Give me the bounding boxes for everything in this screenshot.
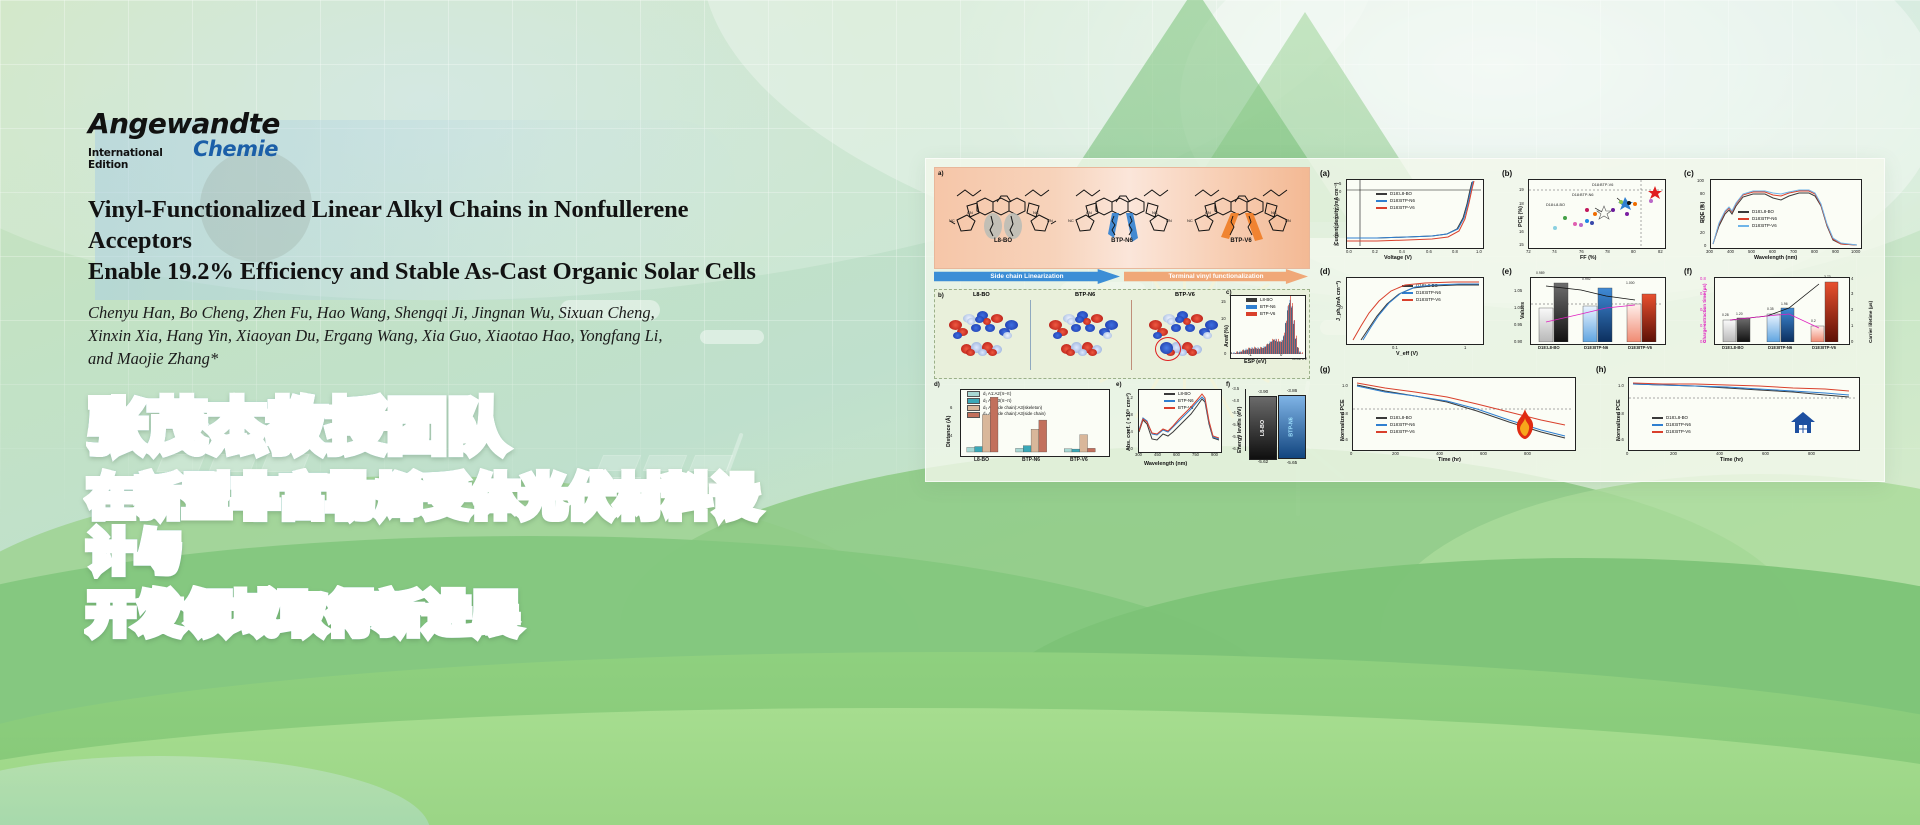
device-panel-c-xlabel: Wavelength (nm) bbox=[1754, 255, 1797, 261]
svg-text:NC: NC bbox=[1187, 218, 1193, 223]
figure-group-right: (a) Current density (mA cm⁻²) Voltage (V… bbox=[1318, 167, 1876, 473]
panel-e-curves bbox=[1139, 390, 1219, 450]
device-e-cat-1: D18:BTP-N6 bbox=[1584, 345, 1608, 350]
energy-bar-btpn6: BTP-N6 bbox=[1278, 395, 1306, 459]
device-b-xtick: 80 bbox=[1631, 249, 1636, 254]
panel-e-absorption-spectra: e) Abs. coef. ( ×10⁵ cm⁻¹) Wavelength (n… bbox=[1116, 381, 1224, 473]
device-panel-b-label: (b) bbox=[1502, 169, 1512, 178]
panel-c-ytick-1: 5 bbox=[1224, 333, 1226, 338]
svg-text:CN: CN bbox=[967, 210, 973, 215]
device-a-xtick: 0.0 bbox=[1346, 249, 1352, 254]
panel-c-xlabel: ESP (eV) bbox=[1244, 359, 1266, 365]
panel-e-xtick-1: 450 bbox=[1154, 452, 1161, 457]
device-a-xtick: 0.8 bbox=[1452, 249, 1458, 254]
svg-text:NC: NC bbox=[1033, 210, 1039, 215]
panel-e-ytick-0: 0.0 bbox=[1127, 446, 1133, 451]
device-c-xtick: 900 bbox=[1832, 249, 1839, 254]
panel-b-title-1: L8-BO bbox=[973, 292, 990, 298]
headline-line-3: 开发领域取得新进展 bbox=[88, 587, 788, 641]
device-h-ytick: 0.6 bbox=[1618, 437, 1624, 442]
device-b-xtick: 82 bbox=[1658, 249, 1663, 254]
energy-bar-name-0: L8-BO bbox=[1260, 420, 1266, 436]
panel-d-bars bbox=[961, 390, 1107, 454]
panel-e-xtick-4: 900 bbox=[1211, 452, 1218, 457]
device-c-xtick: 700 bbox=[1790, 249, 1797, 254]
device-e-ytick: 0.90 bbox=[1514, 339, 1522, 344]
molecule-structure-btpn6: NC CN NC CN BTP-N6 bbox=[1066, 180, 1178, 248]
panel-d-label: d) bbox=[934, 381, 940, 388]
device-panel-h-label: (h) bbox=[1596, 365, 1606, 374]
device-panel-g-xlabel: Time (hr) bbox=[1438, 457, 1461, 463]
device-g-xtick: 0 bbox=[1350, 451, 1352, 456]
journal-name-accent: Chemie bbox=[193, 139, 278, 160]
panel-c-ytick-3: 15 bbox=[1221, 299, 1226, 304]
panel-a-molecular-structures: a) bbox=[934, 167, 1310, 269]
device-panel-h-curves bbox=[1629, 378, 1857, 448]
panel-e-xtick-2: 600 bbox=[1173, 452, 1180, 457]
device-c-xtick: 800 bbox=[1811, 249, 1818, 254]
device-panel-g-label: (g) bbox=[1320, 365, 1330, 374]
device-f-val2-2: 3.73 bbox=[1824, 275, 1831, 279]
device-a-ytick: -5 bbox=[1336, 197, 1340, 202]
device-panel-b: (b) PCE (%) FF (%) 15 16 17 18 19 72 74 … bbox=[1500, 169, 1676, 265]
device-d-ytick: 10 bbox=[1338, 305, 1343, 310]
device-panel-f-ylabel-right: Carrier lifetime (μs) bbox=[1868, 301, 1873, 343]
authors-line-2: Xinxin Xia, Hang Yin, Xiaoyan Du, Ergang… bbox=[88, 324, 788, 347]
device-panel-c-label: (c) bbox=[1684, 169, 1694, 178]
device-b-ytick: 19 bbox=[1519, 187, 1524, 192]
panel-f-ytick-0: -3.5 bbox=[1232, 386, 1239, 391]
device-f-y2tick: 0 bbox=[1851, 339, 1853, 344]
panel-e-xlabel: Wavelength (nm) bbox=[1144, 461, 1187, 467]
device-h-ytick: 0.8 bbox=[1618, 411, 1624, 416]
device-a-ytick: -30 bbox=[1333, 242, 1339, 247]
device-e-ytick: 1.05 bbox=[1514, 288, 1522, 293]
device-g-xtick: 400 bbox=[1436, 451, 1443, 456]
headline-block: 张茂杰教授团队 在新型非富勒烯受体光伏材料设计与 开发领域取得新进展 bbox=[88, 393, 788, 641]
device-c-ytick: 40 bbox=[1700, 217, 1705, 222]
device-panel-a-curves bbox=[1347, 180, 1481, 246]
device-b-ytick: 17 bbox=[1519, 215, 1524, 220]
device-f-ytick: 0.8 bbox=[1700, 276, 1706, 281]
panel-f-ytick-5: -6.0 bbox=[1232, 446, 1239, 451]
device-c-xtick: 600 bbox=[1769, 249, 1776, 254]
flame-icon bbox=[1514, 409, 1536, 439]
panel-e-ytick-3: 1.2 bbox=[1127, 395, 1133, 400]
panel-b-title-2: BTP-N6 bbox=[1075, 292, 1095, 298]
device-b-ytick: 15 bbox=[1519, 242, 1524, 247]
device-b-ytick: 18 bbox=[1519, 201, 1524, 206]
device-f-y2tick: 3 bbox=[1851, 291, 1853, 296]
device-h-xtick: 0 bbox=[1626, 451, 1628, 456]
panel-f-ytick-1: -4.0 bbox=[1232, 398, 1239, 403]
device-panel-g-ylabel: Normalized PCE bbox=[1340, 399, 1346, 441]
device-f-ytick: 0.0 bbox=[1700, 339, 1706, 344]
panel-a-label: a) bbox=[938, 170, 944, 177]
panel-a-arrows: Side chain Linearization Terminal vinyl … bbox=[934, 269, 1308, 284]
panel-f-energy-levels: f) Energy levels (eV) -3.5 -4.0 -4.5 -5.… bbox=[1226, 381, 1308, 473]
device-f-cat-1: D18:BTP-N6 bbox=[1768, 345, 1792, 350]
device-panel-d-label: (d) bbox=[1320, 267, 1330, 276]
panel-e-xtick-0: 300 bbox=[1135, 452, 1142, 457]
device-panel-b-scatter bbox=[1529, 180, 1663, 246]
device-g-ytick: 0.8 bbox=[1342, 411, 1348, 416]
device-panel-c: (c) EQE (%) Wavelength (nm) 0 20 40 60 8… bbox=[1682, 169, 1874, 265]
panel-c-histogram-bars bbox=[1231, 296, 1303, 356]
svg-text:NC: NC bbox=[949, 218, 955, 223]
device-panel-g-curves bbox=[1353, 378, 1573, 448]
device-panel-e-label: (e) bbox=[1502, 267, 1512, 276]
molecule-structure-l8bo: NC CN NC CN L8-BO bbox=[947, 180, 1059, 248]
device-d-xtick: 1 bbox=[1464, 345, 1466, 350]
device-f-val2-0: 1.20 bbox=[1736, 312, 1743, 316]
panel-e-ytick-2: 0.8 bbox=[1127, 412, 1133, 417]
device-panel-d-curves bbox=[1347, 278, 1481, 342]
headline-line-2: 在新型非富勒烯受体光伏材料设计与 bbox=[88, 470, 788, 579]
device-panel-h-ylabel: Normalized PCE bbox=[1616, 399, 1622, 441]
device-panel-e-bars bbox=[1531, 278, 1663, 342]
device-panel-b-xlabel: FF (%) bbox=[1580, 255, 1596, 261]
molecule-label-3: BTP-V6 bbox=[1185, 238, 1297, 244]
panel-c-ytick-0: 0 bbox=[1224, 351, 1226, 356]
device-panel-a-xlabel: Voltage (V) bbox=[1384, 255, 1412, 261]
device-e-cat-0: D18:L8-BO bbox=[1538, 345, 1560, 350]
device-b-xtick: 74 bbox=[1552, 249, 1557, 254]
device-h-ytick: 1.0 bbox=[1618, 383, 1624, 388]
svg-text:CN: CN bbox=[1086, 210, 1092, 215]
device-f-y2tick: 1 bbox=[1851, 323, 1853, 328]
device-h-xtick: 800 bbox=[1808, 451, 1815, 456]
device-a-ytick: 5 bbox=[1339, 181, 1341, 186]
arrow-terminal-vinyl-functionalization: Terminal vinyl functionalization bbox=[1124, 269, 1308, 284]
panel-c-ytick-2: 10 bbox=[1221, 316, 1226, 321]
panel-f-ytick-3: -5.0 bbox=[1232, 422, 1239, 427]
paper-authors: Chenyu Han, Bo Cheng, Zhen Fu, Hao Wang,… bbox=[88, 301, 788, 371]
device-panel-f-bars bbox=[1715, 278, 1847, 342]
device-c-ytick: 0 bbox=[1704, 243, 1706, 248]
device-e-cat-2: D18:BTP-V6 bbox=[1628, 345, 1652, 350]
paper-title-line-1: Vinyl-Functionalized Linear Alkyl Chains… bbox=[88, 195, 788, 257]
device-f-val-1: 0.35 bbox=[1767, 307, 1774, 311]
device-f-val-0: 0.28 bbox=[1722, 313, 1729, 317]
paper-title-line-2: Enable 19.2% Efficiency and Stable As-Ca… bbox=[88, 257, 788, 288]
panel-e-ytick-1: 0.4 bbox=[1127, 429, 1133, 434]
svg-text:NC: NC bbox=[1152, 210, 1158, 215]
journal-logo: Angewandte International Edition Chemie bbox=[88, 110, 278, 171]
panel-d-cat-2: BTP-V6 bbox=[1070, 457, 1088, 463]
device-b-xtick: 76 bbox=[1579, 249, 1584, 254]
device-e-val-light-1: 0.992 bbox=[1582, 277, 1591, 281]
device-g-ytick: 1.0 bbox=[1342, 383, 1348, 388]
device-a-ytick: -20 bbox=[1333, 224, 1339, 229]
device-f-ytick: 0.6 bbox=[1700, 291, 1706, 296]
device-f-val-2: 0.2 bbox=[1811, 319, 1816, 323]
panel-d-ytick-1: 6 bbox=[950, 405, 952, 410]
device-a-xtick: 0.6 bbox=[1426, 249, 1432, 254]
device-c-ytick: 80 bbox=[1700, 191, 1705, 196]
figure-group-left: a) bbox=[934, 167, 1308, 473]
molecule-label-2: BTP-N6 bbox=[1066, 238, 1178, 244]
svg-text:CN: CN bbox=[1047, 218, 1053, 223]
panel-f-label: f) bbox=[1226, 381, 1230, 388]
device-f-ytick: 0.2 bbox=[1700, 323, 1706, 328]
device-panel-a: (a) Current density (mA cm⁻²) Voltage (V… bbox=[1318, 169, 1494, 265]
device-a-ytick: -15 bbox=[1333, 215, 1339, 220]
panel-d-ylabel: Distance (Å) bbox=[946, 416, 952, 447]
device-a-ytick: -25 bbox=[1333, 233, 1339, 238]
panel-d-ytick-0: 4 bbox=[950, 433, 952, 438]
device-a-xtick: 1.0 bbox=[1476, 249, 1482, 254]
device-f-cat-2: D18:BTP-V6 bbox=[1812, 345, 1836, 350]
device-e-val-light-2: 1.000 bbox=[1626, 281, 1635, 285]
device-c-ytick: 60 bbox=[1700, 204, 1705, 209]
house-icon bbox=[1790, 411, 1816, 435]
panel-d-distance-barchart: d) Distance (Å) 4 6 d₁ A1:A2(π–π) d₂ A2:… bbox=[934, 381, 1114, 473]
device-g-ytick: 0.6 bbox=[1342, 437, 1348, 442]
svg-text:CN: CN bbox=[1205, 210, 1211, 215]
device-c-xtick: 1000 bbox=[1851, 249, 1860, 254]
esp-surface-l8bo bbox=[943, 304, 1027, 362]
device-d-xtick: 0.1 bbox=[1392, 345, 1398, 350]
device-f-y2tick: 2 bbox=[1851, 307, 1853, 312]
device-e-ytick: 1.00 bbox=[1514, 305, 1522, 310]
figure-card: a) bbox=[925, 158, 1885, 482]
esp-surface-btpn6 bbox=[1043, 304, 1127, 362]
device-panel-f-label: (f) bbox=[1684, 267, 1692, 276]
panel-f-ytick-2: -4.5 bbox=[1232, 410, 1239, 415]
device-a-ytick: 0 bbox=[1339, 189, 1341, 194]
device-c-xtick: 400 bbox=[1727, 249, 1734, 254]
journal-name-main: Angewandte bbox=[88, 110, 278, 138]
arrow-side-chain-linearization: Side chain Linearization bbox=[934, 269, 1120, 284]
panel-e-xtick-3: 750 bbox=[1192, 452, 1199, 457]
panel-d-cat-1: BTP-N6 bbox=[1022, 457, 1040, 463]
panel-c-esp-histogram: c) Area (%) ESP (eV) 0 5 10 15 -1 0 L8-B… bbox=[1214, 289, 1308, 377]
molecule-label-1: L8-BO bbox=[947, 238, 1059, 244]
device-c-xtick: 300 bbox=[1706, 249, 1713, 254]
device-c-ytick: 100 bbox=[1697, 178, 1704, 183]
panel-b-title-3: BTP-V6 bbox=[1175, 292, 1195, 298]
device-g-xtick: 800 bbox=[1524, 451, 1531, 456]
molecule-structure-btpv6: NC CN NC CN BTP-V6 bbox=[1185, 180, 1297, 248]
device-panel-e: (e) Values 0.90 0.95 1.00 1.05 bbox=[1500, 267, 1676, 363]
journal-name-sub: International Edition bbox=[88, 147, 186, 171]
device-c-xtick: 500 bbox=[1748, 249, 1755, 254]
device-h-xtick: 400 bbox=[1716, 451, 1723, 456]
energy-bar-l8bo: L8-BO bbox=[1249, 396, 1277, 460]
svg-text:NC: NC bbox=[1271, 210, 1277, 215]
device-panel-d: (d) J_ph (mA cm⁻²) V_eff (V) 10 0.1 1 D1… bbox=[1318, 267, 1494, 363]
device-a-xtick: 0.4 bbox=[1399, 249, 1405, 254]
device-f-y2tick: 4 bbox=[1851, 276, 1853, 281]
banner-stage: Angewandte International Edition Chemie … bbox=[0, 0, 1920, 825]
panel-f-lumo-1: -3.86 bbox=[1275, 388, 1309, 393]
panel-d-cat-0: L8-BO bbox=[974, 457, 989, 463]
svg-text:CN: CN bbox=[1166, 218, 1172, 223]
device-panel-h-xlabel: Time (hr) bbox=[1720, 457, 1743, 463]
device-f-cat-0: D18:L8-BO bbox=[1722, 345, 1744, 350]
svg-text:CN: CN bbox=[1285, 218, 1291, 223]
device-panel-d-ylabel: J_ph (mA cm⁻²) bbox=[1336, 281, 1342, 321]
panel-e-label: e) bbox=[1116, 381, 1122, 388]
device-panel-f: (f) Charge extraction time (μs) Carrier … bbox=[1682, 267, 1874, 363]
device-panel-d-xlabel: V_eff (V) bbox=[1396, 351, 1418, 357]
device-e-val-light-0: 0.989 bbox=[1536, 271, 1545, 275]
panel-b-label: b) bbox=[938, 292, 944, 299]
device-h-xtick: 600 bbox=[1762, 451, 1769, 456]
panel-f-homo-1: -5.65 bbox=[1275, 460, 1309, 465]
device-g-xtick: 200 bbox=[1392, 451, 1399, 456]
authors-line-3: and Maojie Zhang* bbox=[88, 347, 788, 370]
panel-f-ytick-4: -5.5 bbox=[1232, 434, 1239, 439]
device-panel-c-curves bbox=[1711, 180, 1859, 246]
device-b-xtick: 78 bbox=[1605, 249, 1610, 254]
authors-line-1: Chenyu Han, Bo Cheng, Zhen Fu, Hao Wang,… bbox=[88, 301, 788, 324]
device-panel-h: (h) Normalized PCE Time (hr) 0.6 0.8 1.0… bbox=[1594, 365, 1874, 471]
device-e-ytick: 0.95 bbox=[1514, 322, 1522, 327]
device-panel-g: (g) Normalized PCE Time (hr) 0.6 0.8 1.0… bbox=[1318, 365, 1584, 471]
left-content-column: Angewandte International Edition Chemie … bbox=[88, 110, 788, 641]
device-b-ytick: 16 bbox=[1519, 229, 1524, 234]
device-panel-a-label: (a) bbox=[1320, 169, 1330, 178]
headline-line-1: 张茂杰教授团队 bbox=[88, 393, 788, 461]
paper-title: Vinyl-Functionalized Linear Alkyl Chains… bbox=[88, 195, 788, 288]
device-a-xtick: 0.2 bbox=[1372, 249, 1378, 254]
device-c-ytick: 20 bbox=[1700, 230, 1705, 235]
device-g-xtick: 600 bbox=[1480, 451, 1487, 456]
device-f-ytick: 0.4 bbox=[1700, 307, 1706, 312]
device-f-val2-1: 1.96 bbox=[1781, 302, 1788, 306]
panel-e-ylabel: Abs. coef. ( ×10⁵ cm⁻¹) bbox=[1126, 393, 1132, 451]
device-b-xtick: 72 bbox=[1526, 249, 1531, 254]
energy-bar-name-1: BTP-N6 bbox=[1289, 417, 1295, 436]
device-a-ytick: -10 bbox=[1333, 206, 1339, 211]
svg-text:NC: NC bbox=[1068, 218, 1074, 223]
device-h-xtick: 200 bbox=[1670, 451, 1677, 456]
